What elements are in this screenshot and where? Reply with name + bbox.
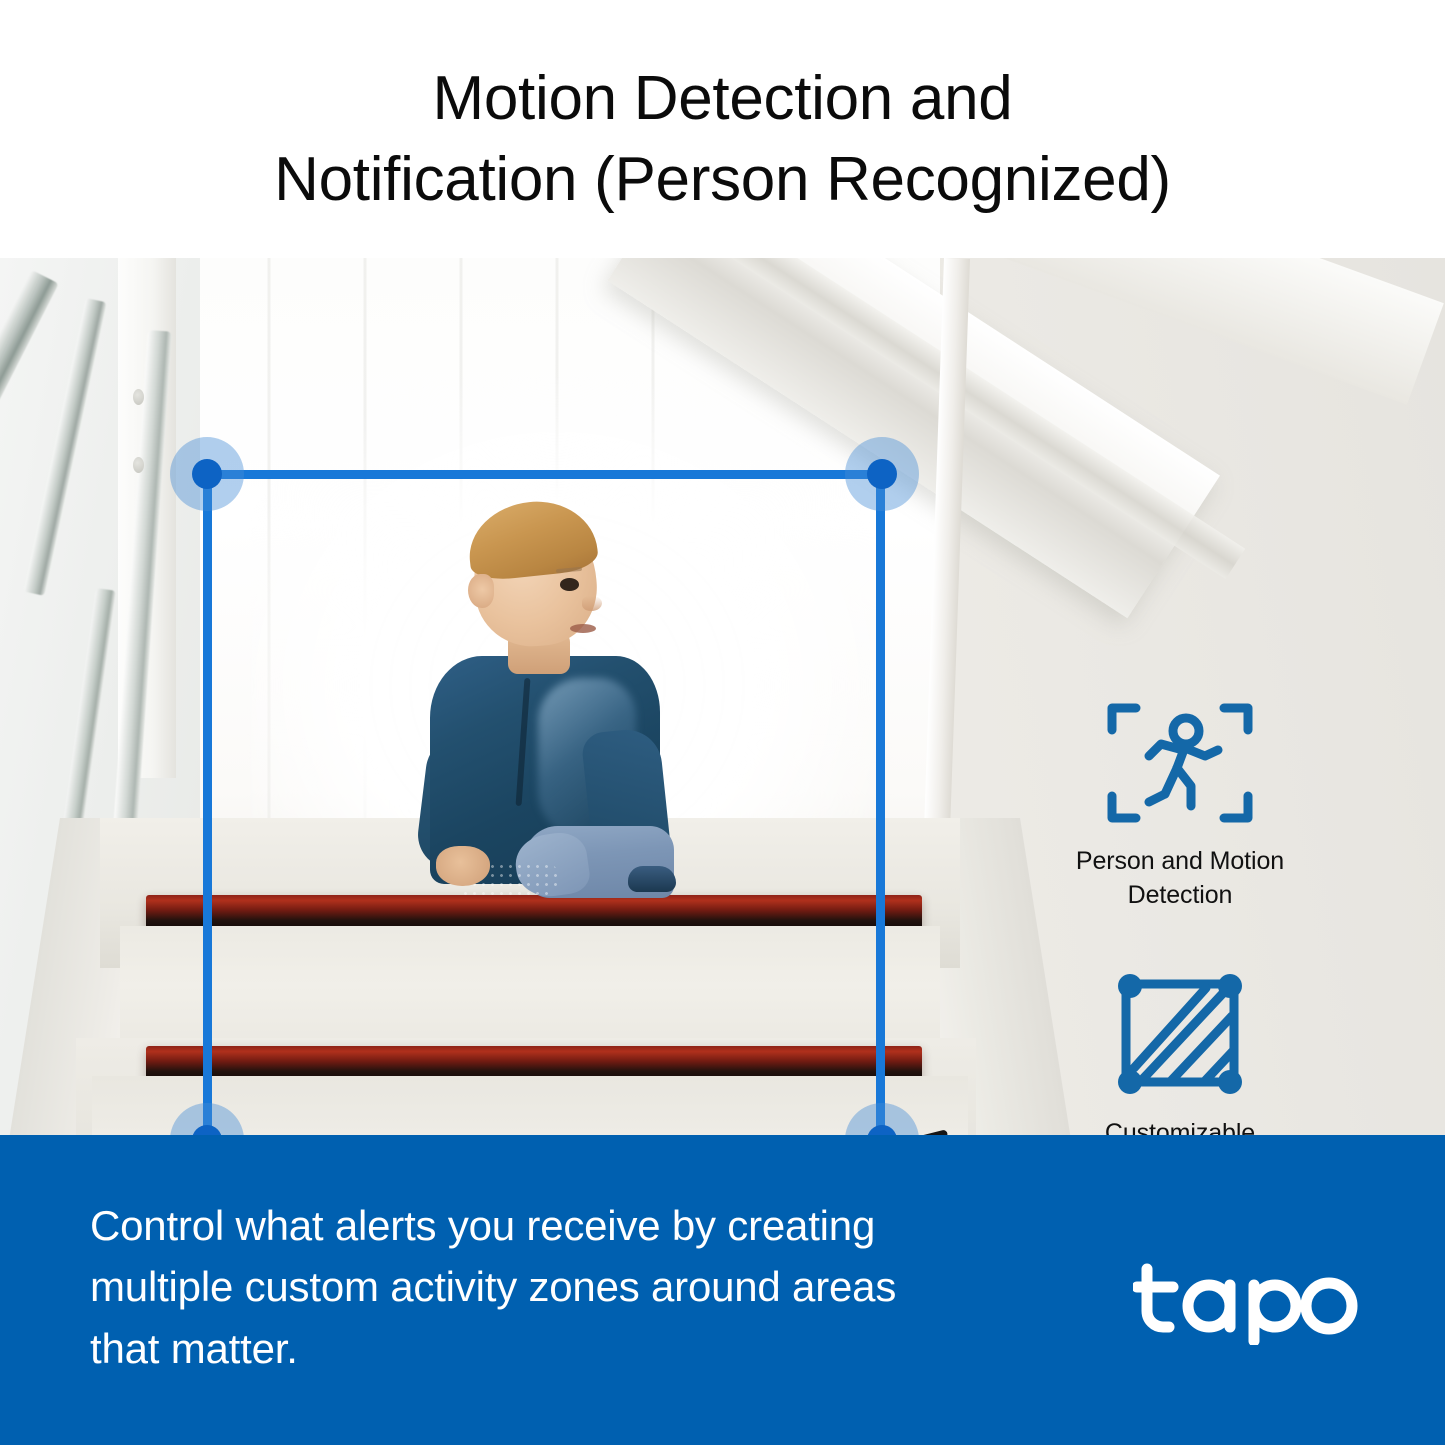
- banner-text-line-2: multiple custom activity zones around ar…: [90, 1256, 990, 1317]
- feature-label-person-motion: Person and Motion Detection: [1076, 845, 1284, 912]
- page-title-line-2: Notification (Person Recognized): [274, 140, 1171, 221]
- detection-line-left: [203, 470, 212, 1135]
- detection-handle-bottom-left[interactable]: [170, 1103, 244, 1135]
- detection-handle-top-left[interactable]: [170, 437, 244, 511]
- product-feature-poster: Motion Detection and Notification (Perso…: [0, 0, 1445, 1445]
- feature-label-activity-zones: Customizable Activity Zones: [1103, 1117, 1257, 1135]
- detection-zone-overlay[interactable]: [203, 470, 885, 1135]
- banner-description: Control what alerts you receive by creat…: [90, 1195, 990, 1379]
- feature-person-motion-detection: Person and Motion Detection: [1076, 698, 1284, 912]
- detection-handle-top-right[interactable]: [845, 437, 919, 511]
- banner-text-line-1: Control what alerts you receive by creat…: [90, 1195, 990, 1256]
- feature-customizable-activity-zones: Customizable Activity Zones: [1103, 972, 1257, 1135]
- detection-handle-bottom-right[interactable]: [845, 1103, 919, 1135]
- handle-dot: [867, 459, 897, 489]
- detection-line-top: [203, 470, 885, 479]
- activity-zone-icon: [1110, 972, 1250, 1100]
- person-motion-detection-icon: [1105, 698, 1255, 828]
- banner-text-line-3: that matter.: [90, 1318, 990, 1379]
- handle-dot: [192, 459, 222, 489]
- detection-line-right: [876, 470, 885, 1135]
- tapo-logo: [1133, 1253, 1363, 1345]
- feature-label-line-2: Detection: [1076, 879, 1284, 913]
- feature-label-line-1: Person and Motion: [1076, 845, 1284, 879]
- handrail-screw-upper: [133, 389, 144, 405]
- bottom-banner: Control what alerts you receive by creat…: [0, 1135, 1445, 1445]
- page-title-line-1: Motion Detection and: [433, 59, 1013, 140]
- camera-scene-photo: Person and Motion Detection: [0, 258, 1445, 1135]
- feature-list: Person and Motion Detection: [1015, 698, 1345, 1135]
- handrail-screw-lower: [133, 457, 144, 473]
- feature-label-line-1: Customizable: [1103, 1117, 1257, 1135]
- page-title: Motion Detection and Notification (Perso…: [0, 0, 1445, 258]
